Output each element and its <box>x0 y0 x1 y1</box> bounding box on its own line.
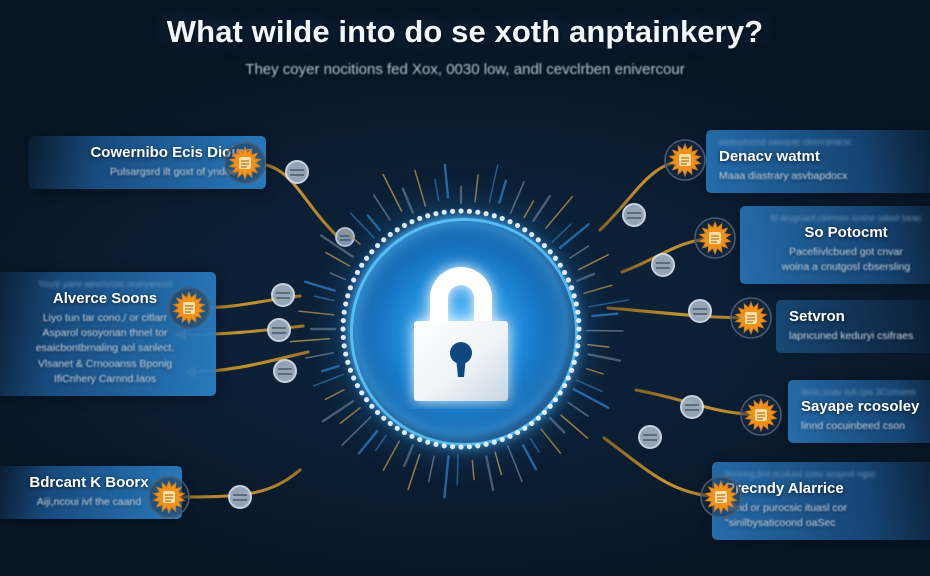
node-title: So Potocmt <box>753 224 930 241</box>
node-subtitle: hfind or purocsic ituasl cor "sinilbysat… <box>725 501 930 531</box>
padlock-icon <box>386 249 536 409</box>
node-label-right-top[interactable]: wsituylocnd sasvpsc ckenranarsc Denacv w… <box>706 130 930 193</box>
center-hub <box>330 198 592 460</box>
page-subtitle: They coyer nocitions fed Xox, 0030 low, … <box>0 61 930 78</box>
node-label-right-lower[interactable]: tecin,snav ioA cps 3Ccmums Sayape rcosol… <box>788 380 930 443</box>
node-subtitle: linnd cocuinbeed cson <box>801 419 930 434</box>
node-label-right-upper[interactable]: bl arugnanf,cklrmos icnine odast beac So… <box>740 206 930 284</box>
header-block: What wilde into do se xoth anptainkery? … <box>0 14 930 78</box>
node-label-right-middle[interactable]: Setvron lapncuned keduryi csifraes <box>776 300 930 353</box>
node-ghost-text: wsituylocnd sasvpsc ckenranarsc <box>719 137 930 147</box>
node-title: Setvron <box>789 308 930 325</box>
node-title: Sayape rcosoley <box>801 398 930 415</box>
starburst-badge-icon[interactable] <box>738 392 784 438</box>
starburst-badge-icon[interactable] <box>146 474 192 520</box>
infographic-canvas: What wilde into do se xoth anptainkery? … <box>0 0 930 576</box>
node-label-right-bottom[interactable]: hnnnng,bnt ocsluvs cosv scspnd ngsc Prec… <box>712 462 930 540</box>
starburst-badge-icon[interactable] <box>692 215 738 261</box>
node-ghost-text: bl arugnanf,cklrmos icnine odast beac <box>753 213 930 223</box>
node-title: Denacv watmt <box>719 148 930 165</box>
node-subtitle: lapncuned keduryi csifraes <box>789 329 930 344</box>
starburst-badge-icon[interactable] <box>222 140 268 186</box>
node-title: Precndy Alarrice <box>725 480 930 497</box>
page-title: What wilde into do se xoth anptainkery? <box>0 14 930 50</box>
node-title: Bdrcant K Boorx <box>9 474 169 491</box>
node-subtitle: Maaa diastrary asvbapdocx <box>719 169 930 184</box>
node-ghost-text: hnnnng,bnt ocsluvs cosv scspnd ngsc <box>725 469 930 479</box>
node-ghost-text: tecin,snav ioA cps 3Ccmums <box>801 387 930 397</box>
node-subtitle: Pacefiivlcbued got cnvar woina a cnutgos… <box>753 245 930 275</box>
node-subtitle: Aiji,ncoui ivf the caand <box>9 495 169 510</box>
starburst-badge-icon[interactable] <box>698 474 744 520</box>
starburst-badge-icon[interactable] <box>662 137 708 183</box>
starburst-badge-icon[interactable] <box>166 285 212 331</box>
starburst-badge-icon[interactable] <box>728 295 774 341</box>
